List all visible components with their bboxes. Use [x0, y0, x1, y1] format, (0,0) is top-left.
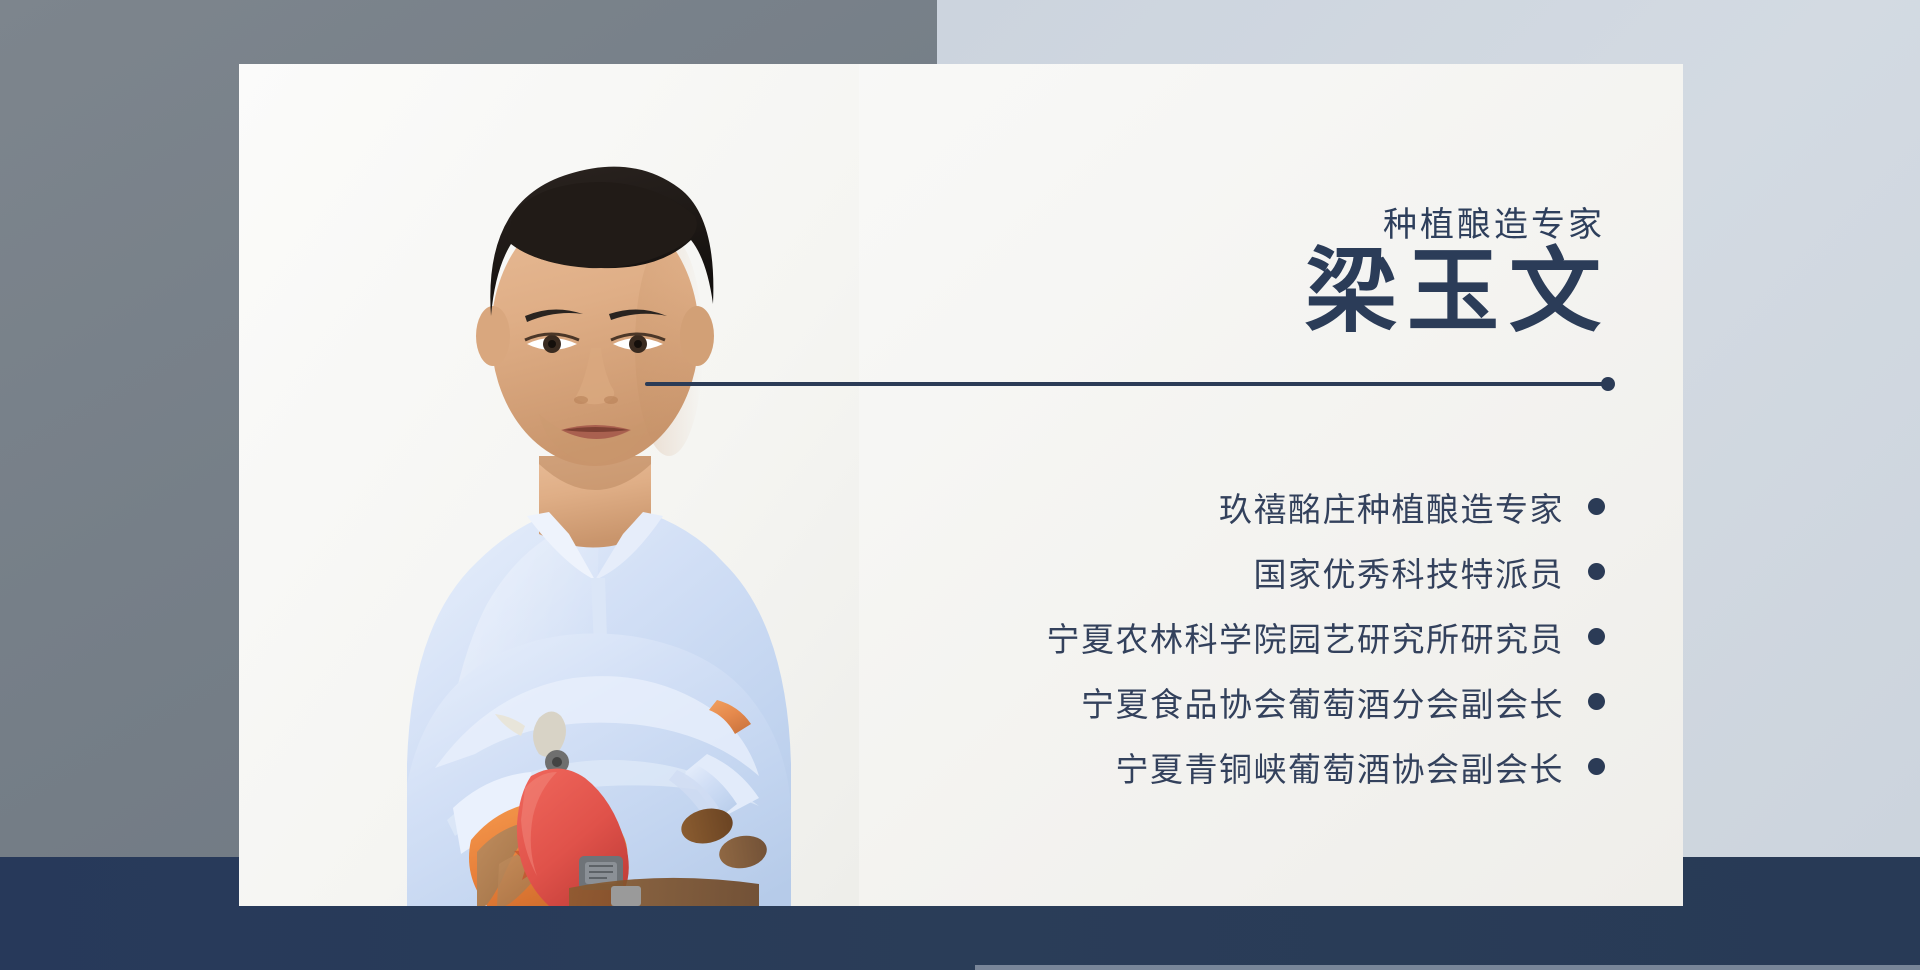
bullet-dot-icon	[1588, 563, 1605, 580]
list-item: 国家优秀科技特派员	[845, 539, 1605, 604]
bullet-dot-icon	[1588, 693, 1605, 710]
role-title: 种植酿造专家	[1383, 197, 1605, 246]
divider-end-dot	[1601, 377, 1615, 391]
background-navy-highlight-strip	[975, 965, 1920, 970]
list-item: 宁夏农林科学院园艺研究所研究员	[845, 604, 1605, 669]
credential-text: 宁夏农林科学院园艺研究所研究员	[1047, 613, 1565, 661]
bullet-dot-icon	[1588, 498, 1605, 515]
list-item: 宁夏食品协会葡萄酒分会副会长	[845, 669, 1605, 734]
credential-text: 宁夏青铜峡葡萄酒协会副会长	[1116, 743, 1565, 791]
expert-name: 梁玉文	[1305, 244, 1611, 341]
credential-text: 宁夏食品协会葡萄酒分会副会长	[1081, 678, 1564, 726]
list-item: 玖禧酩庄种植酿造专家	[845, 474, 1605, 539]
credentials-list: 玖禧酩庄种植酿造专家 国家优秀科技特派员 宁夏农林科学院园艺研究所研究员 宁夏食…	[845, 474, 1605, 799]
credential-text: 国家优秀科技特派员	[1254, 548, 1565, 596]
banner-stage: 种植酿造专家 梁玉文 玖禧酩庄种植酿造专家 国家优秀科技特派员 宁夏农林科学院园…	[0, 0, 1920, 970]
credential-text: 玖禧酩庄种植酿造专家	[1219, 483, 1564, 531]
list-item: 宁夏青铜峡葡萄酒协会副会长	[845, 734, 1605, 799]
expert-info-block: 种植酿造专家 梁玉文 玖禧酩庄种植酿造专家 国家优秀科技特派员 宁夏农林科学院园…	[860, 64, 1683, 906]
section-divider	[645, 382, 1607, 386]
bullet-dot-icon	[1588, 758, 1605, 775]
bullet-dot-icon	[1588, 628, 1605, 645]
